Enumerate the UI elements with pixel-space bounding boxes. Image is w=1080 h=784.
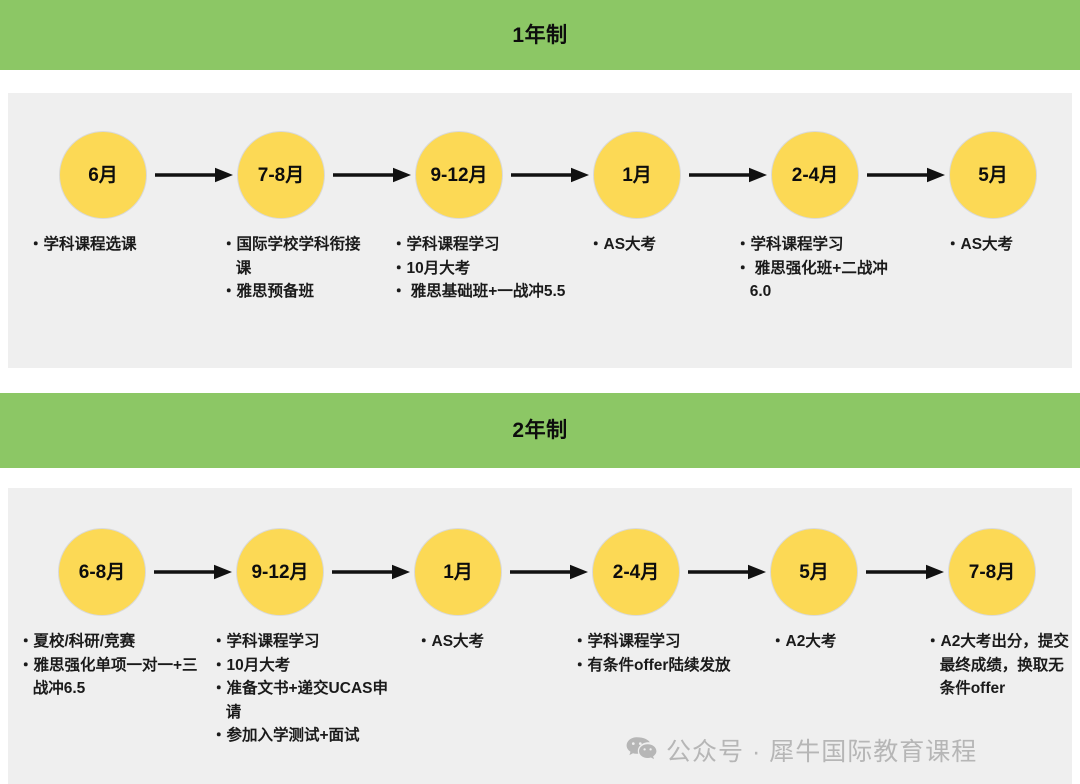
note-line: ・A2大考 [770, 630, 910, 654]
timeline-notes-2: ・学科课程学习 ・10月大考 ・准备文书+递交UCAS申请 ・参加入学测试+面试 [211, 630, 403, 748]
note-line: ・夏校/科研/竞赛 [18, 630, 203, 654]
section-banner-two-year: 2年制 [0, 393, 1080, 468]
timeline-node-6[interactable]: 7-8月 [948, 528, 1036, 616]
timeline-node-5[interactable]: 5月 [770, 528, 858, 616]
note-line: ・雅思强化单项一对一+三战冲6.5 [18, 654, 203, 701]
timeline-node-label: 2-4月 [613, 563, 659, 582]
timeline-notes-4: ・学科课程学习 ・有条件offer陆续发放 [572, 630, 737, 677]
timeline-node-label: 1月 [443, 563, 473, 582]
timeline-track-one-year: 6月 7-8月 9-12月 1月 2-4月 5月 [8, 93, 1072, 368]
section-banner-one-year: 1年制 [0, 0, 1080, 70]
timeline-node-6[interactable]: 5月 [949, 131, 1037, 219]
timeline-node-label: 1月 [622, 166, 652, 185]
note-line: ・雅思预备班 [221, 280, 371, 304]
note-line: ・ 雅思强化班+二战冲6.0 [735, 257, 900, 304]
timeline-node-label: 9-12月 [430, 166, 487, 185]
timeline-panel-one-year: 6月 7-8月 9-12月 1月 2-4月 5月 [8, 93, 1072, 368]
timeline-notes-3: ・AS大考 [416, 630, 556, 654]
timeline-node-label: 9-12月 [251, 563, 308, 582]
arrow-right-icon-2 [333, 164, 411, 186]
arrow-right-icon-3 [510, 561, 588, 583]
note-line: ・学科课程学习 [572, 630, 737, 654]
arrow-right-icon-3 [511, 164, 589, 186]
timeline-infographic: 1年制 6月 7-8月 9-12月 1月 2-4月 5月 [0, 0, 1080, 784]
arrow-right-icon-4 [688, 561, 766, 583]
timeline-notes-5: ・学科课程学习 ・ 雅思强化班+二战冲6.0 [735, 233, 900, 304]
arrow-right-icon-4 [689, 164, 767, 186]
note-line: ・A2大考出分，提交最终成绩，换取无条件offer [925, 630, 1075, 701]
timeline-node-2[interactable]: 7-8月 [237, 131, 325, 219]
arrow-right-icon-2 [332, 561, 410, 583]
note-line: ・10月大考 [391, 257, 606, 281]
note-line: ・AS大考 [588, 233, 728, 257]
note-line: ・学科课程学习 [211, 630, 403, 654]
arrow-right-icon-1 [154, 561, 232, 583]
timeline-node-2[interactable]: 9-12月 [236, 528, 324, 616]
note-line: ・AS大考 [416, 630, 556, 654]
timeline-node-label: 7-8月 [258, 166, 304, 185]
timeline-notes-2: ・国际学校学科衔接课 ・雅思预备班 [221, 233, 371, 304]
note-line: ・AS大考 [945, 233, 1080, 257]
timeline-panel-two-year: 6-8月 9-12月 1月 2-4月 5月 7-8月 [8, 488, 1072, 784]
note-line: ・国际学校学科衔接课 [221, 233, 371, 280]
timeline-track-two-year: 6-8月 9-12月 1月 2-4月 5月 7-8月 [8, 488, 1072, 784]
timeline-node-label: 5月 [799, 563, 829, 582]
section-title-one-year: 1年制 [512, 25, 567, 46]
timeline-notes-3: ・学科课程学习 ・10月大考 ・ 雅思基础班+一战冲5.5 [391, 233, 606, 304]
note-line: ・ 雅思基础班+一战冲5.5 [391, 280, 606, 304]
timeline-node-label: 6-8月 [79, 563, 125, 582]
timeline-notes-4: ・AS大考 [588, 233, 728, 257]
timeline-notes-1: ・夏校/科研/竞赛 ・雅思强化单项一对一+三战冲6.5 [18, 630, 203, 701]
timeline-notes-5: ・A2大考 [770, 630, 910, 654]
note-line: ・10月大考 [211, 654, 403, 678]
timeline-node-label: 6月 [88, 166, 118, 185]
note-line: ・有条件offer陆续发放 [572, 654, 737, 678]
timeline-node-1[interactable]: 6月 [59, 131, 147, 219]
note-line: ・准备文书+递交UCAS申请 [211, 677, 403, 724]
timeline-node-5[interactable]: 2-4月 [771, 131, 859, 219]
timeline-node-4[interactable]: 2-4月 [592, 528, 680, 616]
note-line: ・学科课程学习 [391, 233, 606, 257]
timeline-node-label: 5月 [978, 166, 1008, 185]
timeline-node-3[interactable]: 1月 [414, 528, 502, 616]
timeline-node-3[interactable]: 9-12月 [415, 131, 503, 219]
timeline-notes-6: ・AS大考 [945, 233, 1080, 257]
arrow-right-icon-1 [155, 164, 233, 186]
section-title-two-year: 2年制 [512, 420, 567, 441]
arrow-right-icon-5 [867, 164, 945, 186]
timeline-notes-6: ・A2大考出分，提交最终成绩，换取无条件offer [925, 630, 1075, 701]
timeline-node-label: 2-4月 [792, 166, 838, 185]
note-line: ・学科课程选课 [28, 233, 198, 257]
arrow-right-icon-5 [866, 561, 944, 583]
timeline-node-label: 7-8月 [969, 563, 1015, 582]
note-line: ・参加入学测试+面试 [211, 724, 403, 748]
timeline-node-1[interactable]: 6-8月 [58, 528, 146, 616]
timeline-node-4[interactable]: 1月 [593, 131, 681, 219]
note-line: ・学科课程学习 [735, 233, 900, 257]
timeline-notes-1: ・学科课程选课 [28, 233, 198, 257]
